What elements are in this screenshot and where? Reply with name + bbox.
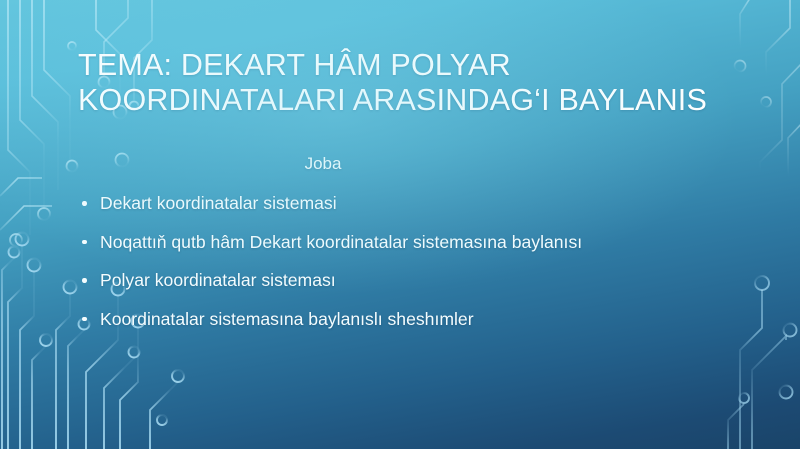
list-item-label: Noqattıň qutb hâm Dekart koordinatalar s… xyxy=(100,232,582,252)
slide-title-line-1: TEMA: DEKART HÂM POLYAR xyxy=(78,48,718,83)
slide-title-line-2: KOORDINATALARI ARASINDAG‘I BAYLANIS xyxy=(78,83,718,118)
agenda-list: Dekart koordinatalar sistemasi Noqattıň … xyxy=(78,192,738,346)
slide-title: TEMA: DEKART HÂM POLYAR KOORDINATALARI A… xyxy=(78,48,718,118)
list-item: Koordinatalar sistemasına baylanıslı she… xyxy=(78,308,738,330)
bullet-dot-icon xyxy=(82,201,87,206)
presentation-slide: TEMA: DEKART HÂM POLYAR KOORDINATALARI A… xyxy=(0,0,800,449)
list-item: Polyar koordinatalar sisteması xyxy=(78,269,738,291)
list-item-label: Polyar koordinatalar sisteması xyxy=(100,270,336,290)
bullet-dot-icon xyxy=(82,240,87,245)
list-item-label: Koordinatalar sistemasına baylanıslı she… xyxy=(100,309,474,329)
list-item: Dekart koordinatalar sistemasi xyxy=(78,192,738,214)
list-item: Noqattıň qutb hâm Dekart koordinatalar s… xyxy=(78,231,738,253)
slide-subtitle: Joba xyxy=(78,152,568,176)
list-item-label: Dekart koordinatalar sistemasi xyxy=(100,193,337,213)
slide-content: TEMA: DEKART HÂM POLYAR KOORDINATALARI A… xyxy=(0,0,800,449)
bullet-dot-icon xyxy=(82,317,87,322)
bullet-dot-icon xyxy=(82,278,87,283)
